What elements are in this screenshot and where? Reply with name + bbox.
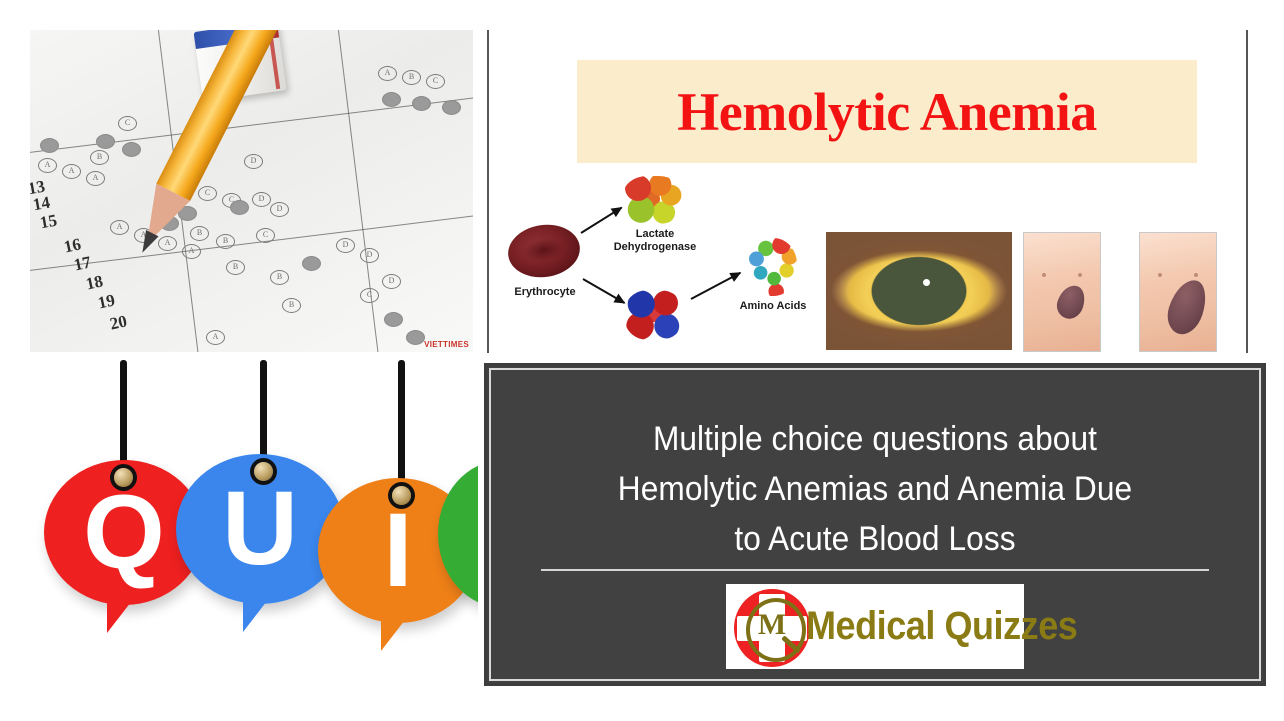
quiz-bubble-u[interactable]: U	[176, 454, 344, 604]
quiz-letter: I	[383, 491, 412, 611]
answer-bubble[interactable]: B	[226, 260, 245, 275]
answer-bubble-filled[interactable]: B	[96, 134, 115, 149]
answer-bubble[interactable]: A	[378, 66, 397, 81]
answer-bubble-filled[interactable]: D	[384, 312, 403, 327]
erythrocyte-label: Erythrocyte	[501, 286, 589, 299]
answer-bubble[interactable]: C	[118, 116, 137, 131]
answer-bubble-filled[interactable]: B	[412, 96, 431, 111]
page-title: Multiple choice questions about Hemolyti…	[561, 414, 1190, 564]
divider	[541, 569, 1209, 571]
hemolytic-anemia-figure: Hemolytic Anemia Erythrocyte Lactate Deh…	[487, 30, 1248, 353]
title-card-inner: Multiple choice questions about Hemolyti…	[497, 376, 1253, 673]
answer-bubble[interactable]: A	[182, 244, 201, 259]
amino-acids-icon	[745, 238, 797, 296]
watermark: VIETTIMES	[424, 340, 469, 349]
splenomegaly-mild-photo	[1023, 232, 1101, 352]
answer-bubble-filled[interactable]: C	[230, 200, 249, 215]
answer-bubble[interactable]: D	[244, 154, 263, 169]
answer-bubble[interactable]: D	[270, 202, 289, 217]
anatomy-marker	[1042, 273, 1046, 277]
answer-bubble-filled[interactable]: A	[382, 92, 401, 107]
quiz-letter: Q	[83, 473, 165, 593]
answer-bubble[interactable]: B	[90, 150, 109, 165]
spleen-shape	[1162, 275, 1212, 339]
answer-bubble[interactable]: B	[216, 234, 235, 249]
hemoglobin-icon	[625, 290, 683, 340]
answer-bubble[interactable]: D	[360, 248, 379, 263]
title-line-1: Multiple choice questions about	[561, 414, 1190, 464]
answer-bubble[interactable]: D	[336, 238, 355, 253]
answer-bubble[interactable]: C	[426, 74, 445, 89]
arrow-to-amino-acids-icon	[691, 272, 741, 300]
anatomy-marker	[1158, 273, 1162, 277]
bubble-tail	[381, 607, 415, 651]
answer-bubble[interactable]: A	[110, 220, 129, 235]
figure-title-banner: Hemolytic Anemia	[577, 60, 1197, 163]
answer-bubble[interactable]: D	[252, 192, 271, 207]
eye-highlight	[923, 279, 930, 286]
slide-canvas: A A A B B C B C A A A A B B B C C A A A …	[0, 0, 1284, 721]
answer-bubble[interactable]: B	[270, 270, 289, 285]
answer-bubble[interactable]: A	[86, 171, 105, 186]
erythrocyte-icon	[505, 220, 584, 282]
bubble-tail	[107, 589, 141, 633]
answer-bubble-filled[interactable]: C	[442, 100, 461, 115]
erythrocyte-breakdown-diagram: Erythrocyte Lactate Dehydrogenase Amino …	[495, 170, 835, 350]
answer-bubble[interactable]: B	[190, 226, 209, 241]
medical-cross-icon: M	[728, 586, 810, 668]
bubble-tail	[243, 588, 277, 632]
logo-monogram: M	[750, 604, 794, 646]
answer-bubble[interactable]: C	[256, 228, 275, 243]
hanging-string	[398, 360, 405, 496]
ldh-label: Lactate Dehydrogenase	[609, 228, 701, 254]
title-line-3: to Acute Blood Loss	[561, 514, 1190, 564]
logo-wordmark: Medical Quizzes	[806, 604, 1077, 649]
answer-bubble-filled[interactable]: D	[406, 330, 425, 345]
answer-bubble[interactable]: D	[382, 274, 401, 289]
jaundiced-eye-photo	[826, 232, 1012, 350]
answer-bubble[interactable]: C	[198, 186, 217, 201]
amino-acids-label: Amino Acids	[735, 300, 811, 313]
question-number: 15	[38, 211, 58, 234]
answer-bubble[interactable]: A	[62, 164, 81, 179]
answer-sheet-photo: A A A B B C B C A A A A B B B C C A A A …	[30, 30, 473, 352]
figure-title: Hemolytic Anemia	[677, 81, 1096, 143]
answer-bubble-filled[interactable]: C	[122, 142, 141, 157]
answer-bubble[interactable]: B	[402, 70, 421, 85]
answer-bubble[interactable]: B	[282, 298, 301, 313]
answer-bubble-filled[interactable]: B	[40, 138, 59, 153]
anatomy-marker	[1078, 273, 1082, 277]
quiz-speech-bubbles-graphic: Q U I	[28, 360, 478, 690]
anatomy-marker	[1194, 273, 1198, 277]
spleen-shape	[1053, 282, 1088, 322]
answer-bubble-filled[interactable]: C	[302, 256, 321, 271]
splenomegaly-severe-photo	[1139, 232, 1217, 352]
answer-bubble[interactable]: A	[206, 330, 225, 345]
title-line-2: Hemolytic Anemias and Anemia Due	[561, 464, 1190, 514]
quiz-letter: U	[222, 469, 298, 589]
medical-quizzes-logo[interactable]: M Medical Quizzes	[726, 584, 1024, 669]
lactate-dehydrogenase-icon	[623, 176, 683, 224]
answer-bubble[interactable]: A	[38, 158, 57, 173]
answer-bubble[interactable]: C	[360, 288, 379, 303]
title-card: Multiple choice questions about Hemolyti…	[484, 363, 1266, 686]
